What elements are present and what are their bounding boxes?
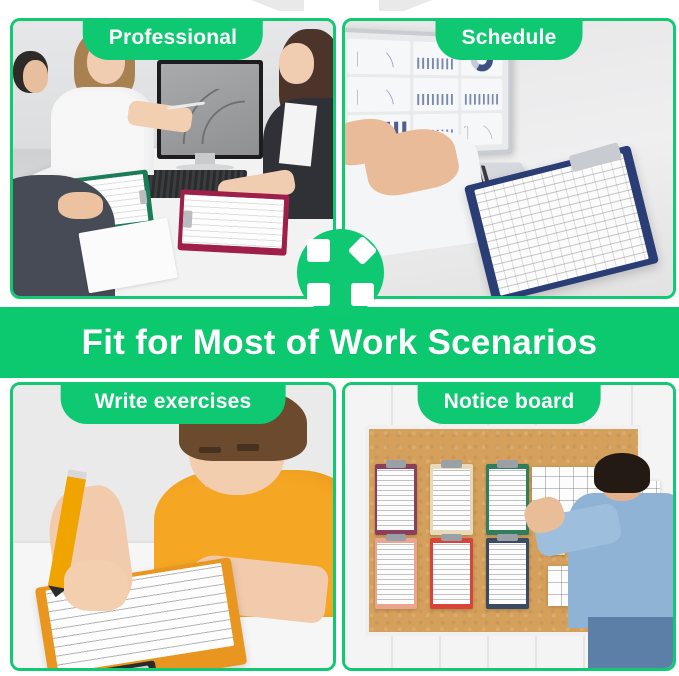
board-clipboard-4: [375, 538, 418, 609]
panel-notice-board[interactable]: Notice board: [342, 382, 676, 671]
panel-label-write-exercises: Write exercises: [61, 383, 286, 424]
photo-write-exercises: [13, 385, 333, 668]
headline-text: Fit for Most of Work Scenarios: [0, 307, 679, 378]
panel-label-notice-board: Notice board: [418, 383, 601, 424]
panel-write-exercises[interactable]: Write exercises: [10, 382, 336, 671]
infographic-root: Professional: [0, 0, 679, 676]
woman-right-face: [279, 43, 314, 84]
four-squares-logo-icon: [297, 229, 384, 316]
logo-square-bottom-right: [351, 283, 374, 306]
panel-schedule[interactable]: Schedule: [342, 18, 676, 299]
board-clipboard-6: [486, 538, 529, 609]
panel-label-schedule: Schedule: [436, 19, 583, 60]
man-foreground-hand: [58, 192, 103, 220]
dashboard-cell: [413, 78, 459, 112]
dashboard-cell: [347, 77, 409, 112]
headline-band: Fit for Most of Work Scenarios: [0, 307, 679, 378]
clipboard-magenta-clamp: [183, 209, 193, 226]
boy-eye-right: [237, 444, 259, 450]
man-hair: [594, 453, 650, 493]
man-foreground-face: [23, 60, 49, 93]
logo-square-bottom-left: [307, 283, 330, 306]
boy-eye-left: [199, 447, 221, 453]
band-notch-left: [248, 0, 304, 11]
panel-professional[interactable]: Professional: [10, 18, 336, 299]
clipboard-green-clamp: [138, 189, 147, 204]
man-jeans: [588, 617, 673, 668]
clipboard-magenta: [178, 189, 290, 255]
board-clipboard-5: [430, 538, 473, 609]
dashboard-cell: [461, 78, 501, 110]
band-notch-right: [379, 0, 435, 11]
dashboard-cell: [347, 38, 409, 74]
photo-notice-board: [345, 385, 673, 668]
board-clipboard-2: [430, 464, 473, 535]
board-clipboard-1: [375, 464, 418, 535]
panel-label-professional: Professional: [83, 19, 263, 60]
logo-square-top-left: [307, 239, 330, 262]
woman-right-shirt: [279, 102, 317, 166]
clipboard-magenta-sheet: [183, 194, 286, 249]
photo-professional: [13, 21, 333, 296]
board-clipboard-3: [486, 464, 529, 535]
boy-writing-hand: [64, 560, 128, 611]
photo-schedule: [345, 21, 673, 296]
